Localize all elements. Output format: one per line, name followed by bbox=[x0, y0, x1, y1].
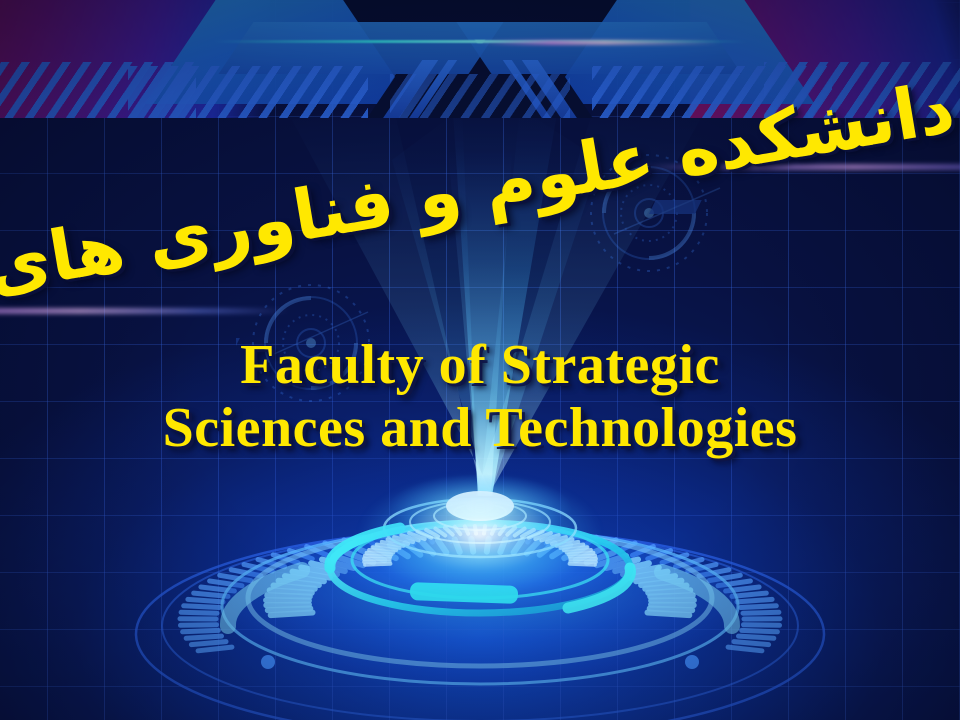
english-title: Faculty of Strategic Sciences and Techno… bbox=[0, 334, 960, 459]
english-title-line-2: Sciences and Technologies bbox=[0, 397, 960, 460]
title-text-block: دانشکده علوم و فناوری های راهبردی Facult… bbox=[0, 0, 960, 720]
title-slide: دانشکده علوم و فناوری های راهبردی Facult… bbox=[0, 0, 960, 720]
persian-title: دانشکده علوم و فناوری های راهبردی bbox=[1, 71, 960, 302]
english-title-line-1: Faculty of Strategic bbox=[0, 334, 960, 397]
